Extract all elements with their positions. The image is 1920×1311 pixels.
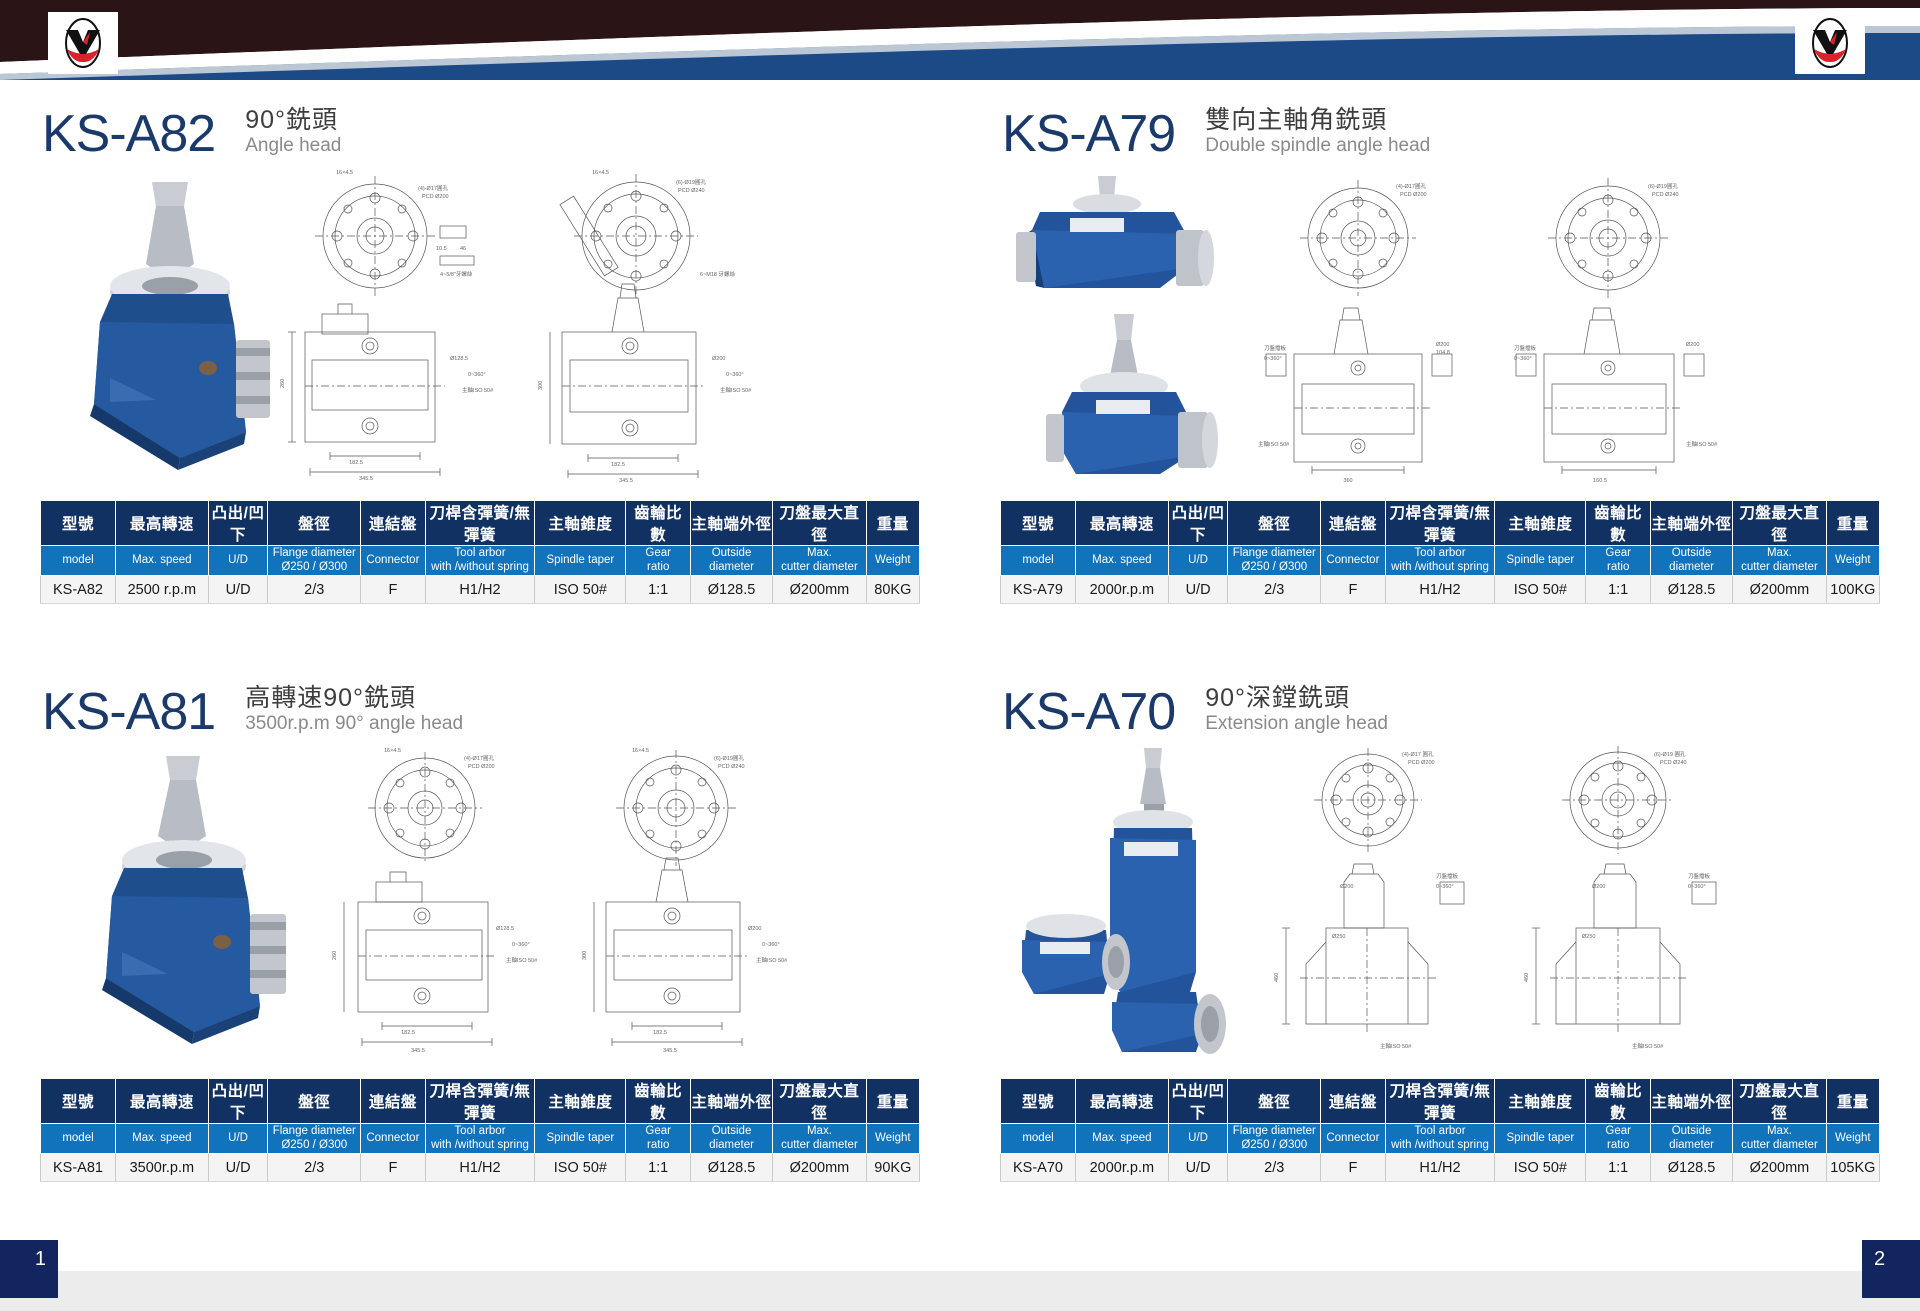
th-en-outside: Outsidediameter — [690, 1124, 772, 1154]
cell-max-cutter-diameter: Ø200mm — [773, 1154, 867, 1182]
th-en-gear: Gearratio — [626, 546, 691, 576]
th-en-ud: U/D — [208, 1124, 268, 1154]
product-title-cn: 高轉速90°銑頭 — [245, 684, 463, 713]
product-visual-area: 182.5 345.5 (4)-Ø17圓孔 PCD Ø200 16×4.5 0~… — [0, 742, 960, 1072]
th-en-model: model — [41, 546, 116, 576]
svg-text:16×4.5: 16×4.5 — [336, 170, 353, 176]
table-header-cn: 型號 最高轉速 凸出/凹下 盤徑 連結盤 刀桿含彈簧/無彈簧 主軸錐度 齒輪比數… — [1001, 1079, 1880, 1124]
th-en-taper-l1: Spindle taper — [1506, 554, 1574, 566]
th-en-taper: Spindle taper — [1495, 546, 1586, 576]
spec-table: 型號 最高轉速 凸出/凹下 盤徑 連結盤 刀桿含彈簧/無彈簧 主軸錐度 齒輪比數… — [1000, 1078, 1880, 1182]
th-en-arbor-l1: Tool arbor — [1414, 547, 1465, 559]
th-en-outside-l2: diameter — [709, 1139, 754, 1151]
th-en-arbor-l2: with /without spring — [1391, 1139, 1489, 1151]
th-en-model-l1: model — [1022, 554, 1053, 566]
svg-text:PCD Ø200: PCD Ø200 — [1408, 760, 1435, 766]
svg-text:主軸ISO 50#: 主軸ISO 50# — [462, 386, 494, 394]
th-en-model: model — [41, 1124, 116, 1154]
product-title-row: KS-A70 90°深鏜銑頭 Extension angle head — [960, 660, 1920, 738]
svg-text:Ø200: Ø200 — [1686, 342, 1699, 348]
th-cn-gear: 齒輪比數 — [626, 501, 691, 546]
cell-model: KS-A81 — [41, 1154, 116, 1182]
svg-text:PCD Ø240: PCD Ø240 — [1652, 192, 1679, 198]
svg-text:345.5: 345.5 — [411, 1048, 425, 1054]
svg-text:主軸ISO 50#: 主軸ISO 50# — [1632, 1042, 1664, 1050]
drawing-front-view: 182.5 345.5 (4)-Ø17圓孔 PCD Ø200 10.5 46 4… — [270, 164, 520, 494]
svg-text:0~360°: 0~360° — [762, 942, 780, 948]
svg-text:16×4.5: 16×4.5 — [632, 748, 649, 754]
cell-max-speed: 2000r.p.m — [1075, 1154, 1168, 1182]
logo-icon — [56, 16, 110, 70]
th-cn-connector: 連結盤 — [1321, 1079, 1386, 1124]
th-en-arbor-l2: with /without spring — [1391, 561, 1489, 573]
th-cn-weight: 重量 — [1826, 501, 1879, 546]
th-en-ud-l1: U/D — [228, 554, 248, 566]
table-row: KS-A82 2500 r.p.m U/D 2/3 F H1/H2 ISO 50… — [41, 576, 920, 604]
svg-text:4~5/8"牙螺絲: 4~5/8"牙螺絲 — [440, 270, 473, 278]
drawing-front-view: (4)-Ø17圓孔 PCD Ø200 360 刀盤擋板 0~360° 主軸ISO… — [1250, 168, 1490, 488]
th-en-taper-l1: Spindle taper — [1506, 1132, 1574, 1144]
svg-text:刀盤擋板: 刀盤擋板 — [1514, 344, 1537, 352]
th-cn-cutter: 刀盤最大直徑 — [773, 501, 867, 546]
product-title-en: 3500r.p.m 90° angle head — [245, 713, 463, 736]
th-en-cutter-l2: cutter diameter — [781, 561, 858, 573]
product-title-row: KS-A82 90°銑頭 Angle head — [0, 82, 960, 160]
svg-text:Ø250: Ø250 — [1332, 934, 1345, 940]
th-en-model-l1: model — [62, 1132, 93, 1144]
side-view-drawing: 182.5 345.5 (6)-Ø19圓孔 PCD Ø240 6~M18 牙螺絲… — [526, 164, 776, 494]
cell-max-cutter-diameter: Ø200mm — [1733, 576, 1827, 604]
company-logo-right — [1795, 12, 1865, 74]
th-cn-weight: 重量 — [1826, 1079, 1879, 1124]
th-cn-taper: 主軸錐度 — [1495, 501, 1586, 546]
svg-text:16×4.5: 16×4.5 — [384, 748, 401, 754]
th-en-speed: Max. speed — [115, 1124, 208, 1154]
logo-icon — [1803, 16, 1857, 70]
th-en-cutter-l1: Max. — [807, 547, 832, 559]
th-en-arbor-l2: with /without spring — [431, 561, 529, 573]
th-cn-taper: 主軸錐度 — [535, 1079, 626, 1124]
th-en-cutter-l2: cutter diameter — [781, 1139, 858, 1151]
product-model-code: KS-A70 — [1002, 686, 1175, 738]
table-header-en: model Max. speed U/D Flange diameterØ250… — [1001, 1124, 1880, 1154]
table-row: KS-A81 3500r.p.m U/D 2/3 F H1/H2 ISO 50#… — [41, 1154, 920, 1182]
th-en-weight-l1: Weight — [875, 554, 911, 566]
cell-gear-ratio: 1:1 — [1586, 576, 1651, 604]
th-cn-arbor: 刀桿含彈簧/無彈簧 — [1385, 501, 1495, 546]
th-en-ud: U/D — [208, 546, 268, 576]
th-en-flange: Flange diameterØ250 / Ø300 — [1228, 546, 1321, 576]
th-en-taper: Spindle taper — [1495, 1124, 1586, 1154]
th-en-arbor: Tool arborwith /without spring — [1385, 546, 1495, 576]
th-cn-speed: 最高轉速 — [115, 1079, 208, 1124]
th-en-model-l1: model — [62, 554, 93, 566]
th-en-flange-l1: Flange diameter — [1233, 547, 1316, 559]
cell-max-cutter-diameter: Ø200mm — [1733, 1154, 1827, 1182]
th-cn-gear: 齒輪比數 — [1586, 1079, 1651, 1124]
th-en-connector: Connector — [1321, 546, 1386, 576]
th-en-speed-l1: Max. speed — [132, 1132, 191, 1144]
th-en-gear-l2: ratio — [1607, 1139, 1629, 1151]
spec-table-wrapper: 型號 最高轉速 凸出/凹下 盤徑 連結盤 刀桿含彈簧/無彈簧 主軸錐度 齒輪比數… — [960, 1078, 1920, 1182]
company-logo-left — [48, 12, 118, 74]
svg-text:0~360°: 0~360° — [726, 372, 744, 378]
catalog-page: KS-A82 90°銑頭 Angle head — [0, 0, 1920, 1311]
th-en-arbor: Tool arborwith /without spring — [425, 546, 535, 576]
th-cn-model: 型號 — [1001, 501, 1076, 546]
svg-text:182.5: 182.5 — [349, 460, 363, 466]
th-en-outside: Outsidediameter — [1650, 1124, 1732, 1154]
front-view-drawing: 182.5 345.5 (4)-Ø17圓孔 PCD Ø200 10.5 46 4… — [270, 164, 520, 494]
th-en-weight: Weight — [866, 546, 919, 576]
th-cn-connector: 連結盤 — [361, 501, 426, 546]
product-title-en: Angle head — [245, 135, 341, 158]
cell-tool-arbor: H1/H2 — [1385, 576, 1495, 604]
th-en-taper: Spindle taper — [535, 1124, 626, 1154]
svg-text:Ø128.5: Ø128.5 — [496, 926, 514, 932]
th-cn-ud: 凸出/凹下 — [1168, 501, 1228, 546]
th-en-ud: U/D — [1168, 1124, 1228, 1154]
th-en-outside-l1: Outside — [712, 547, 752, 559]
svg-text:182.5: 182.5 — [611, 462, 625, 468]
cell-weight: 105KG — [1826, 1154, 1879, 1182]
cell-outside-diameter: Ø128.5 — [690, 576, 772, 604]
th-en-connector: Connector — [361, 1124, 426, 1154]
svg-text:Ø200: Ø200 — [748, 926, 761, 932]
side-view-drawing: 182.5 345.5 (6)-Ø19圓孔 PCD Ø240 16×4.5 0~… — [568, 742, 808, 1062]
th-en-gear-l1: Gear — [1605, 1125, 1631, 1137]
svg-text:(6)-Ø19 圓孔: (6)-Ø19 圓孔 — [1654, 750, 1686, 758]
th-en-arbor: Tool arborwith /without spring — [425, 1124, 535, 1154]
svg-text:182.5: 182.5 — [653, 1030, 667, 1036]
th-en-weight: Weight — [1826, 546, 1879, 576]
cell-model: KS-A79 — [1001, 576, 1076, 604]
th-cn-connector: 連結盤 — [361, 1079, 426, 1124]
th-cn-connector: 連結盤 — [1321, 501, 1386, 546]
th-en-flange: Flange diameterØ250 / Ø300 — [268, 1124, 361, 1154]
th-en-outside: Outsidediameter — [690, 546, 772, 576]
cell-spindle-taper: ISO 50# — [1495, 1154, 1586, 1182]
svg-text:104.8: 104.8 — [1436, 350, 1450, 356]
cell-weight: 80KG — [866, 576, 919, 604]
th-cn-speed: 最高轉速 — [1075, 501, 1168, 546]
th-cn-flange: 盤徑 — [268, 1079, 361, 1124]
svg-text:10.5: 10.5 — [436, 246, 447, 252]
th-cn-cutter: 刀盤最大直徑 — [1733, 501, 1827, 546]
cell-model: KS-A70 — [1001, 1154, 1076, 1182]
cell-model: KS-A82 — [41, 576, 116, 604]
svg-text:460: 460 — [1274, 973, 1280, 982]
svg-text:PCD Ø240: PCD Ø240 — [718, 764, 745, 770]
th-cn-flange: 盤徑 — [1228, 1079, 1321, 1124]
cell-tool-arbor: H1/H2 — [425, 576, 535, 604]
cell-connector: F — [1321, 1154, 1386, 1182]
th-en-taper-l1: Spindle taper — [546, 1132, 614, 1144]
th-cn-cutter: 刀盤最大直徑 — [1733, 1079, 1827, 1124]
svg-text:0~360°: 0~360° — [1436, 884, 1454, 890]
th-en-cutter-l2: cutter diameter — [1741, 1139, 1818, 1151]
th-cn-arbor: 刀桿含彈簧/無彈簧 — [425, 501, 535, 546]
svg-text:46: 46 — [460, 246, 466, 252]
th-en-flange-l2: Ø250 / Ø300 — [1241, 1139, 1307, 1151]
cell-outside-diameter: Ø128.5 — [1650, 576, 1732, 604]
svg-text:Ø128.5: Ø128.5 — [450, 356, 468, 362]
svg-text:PCD Ø240: PCD Ø240 — [1660, 760, 1687, 766]
page-number-left: 1 — [0, 1240, 58, 1298]
product-visual-area: (4)-Ø17圓孔 PCD Ø200 360 刀盤擋板 0~360° 主軸ISO… — [960, 164, 1920, 494]
footer-band — [0, 1271, 1920, 1311]
cell-ud: U/D — [208, 576, 268, 604]
svg-text:260: 260 — [280, 379, 286, 388]
cell-spindle-taper: ISO 50# — [1495, 576, 1586, 604]
th-en-outside-l2: diameter — [1669, 1139, 1714, 1151]
svg-text:主軸ISO 50#: 主軸ISO 50# — [720, 386, 752, 394]
cell-ud: U/D — [1168, 576, 1228, 604]
svg-text:(4)-Ø17圓孔: (4)-Ø17圓孔 — [464, 754, 494, 762]
svg-text:Ø250: Ø250 — [1582, 934, 1595, 940]
th-en-gear-l1: Gear — [645, 547, 671, 559]
th-en-gear: Gearratio — [626, 1124, 691, 1154]
angle-head-photo-illustration — [60, 172, 280, 472]
th-en-ud: U/D — [1168, 546, 1228, 576]
th-en-flange-l1: Flange diameter — [273, 1125, 356, 1137]
th-en-speed: Max. speed — [1075, 1124, 1168, 1154]
drawing-side-view: (6)-Ø19 圓孔 PCD Ø240 Ø250 Ø200 460 刀盤擋板 0… — [1510, 742, 1750, 1062]
th-cn-speed: 最高轉速 — [1075, 1079, 1168, 1124]
front-view-drawing: (4)-Ø17 圓孔 PCD Ø200 Ø250 Ø200 460 刀盤擋板 0… — [1260, 742, 1500, 1062]
th-en-outside-l2: diameter — [709, 561, 754, 573]
spec-table: 型號 最高轉速 凸出/凹下 盤徑 連結盤 刀桿含彈簧/無彈簧 主軸錐度 齒輪比數… — [1000, 500, 1880, 604]
svg-text:345.5: 345.5 — [619, 478, 633, 484]
th-en-gear-l1: Gear — [645, 1125, 671, 1137]
th-en-model-l1: model — [1022, 1132, 1053, 1144]
th-cn-taper: 主軸錐度 — [1495, 1079, 1586, 1124]
svg-text:主軸ISO 50#: 主軸ISO 50# — [756, 956, 788, 964]
th-en-gear: Gearratio — [1586, 1124, 1651, 1154]
technical-drawings: 182.5 345.5 (4)-Ø17圓孔 PCD Ø200 10.5 46 4… — [270, 164, 776, 494]
product-title-cn: 90°深鏜銑頭 — [1205, 684, 1388, 713]
th-cn-flange: 盤徑 — [1228, 501, 1321, 546]
cell-gear-ratio: 1:1 — [626, 576, 691, 604]
svg-text:Ø200: Ø200 — [712, 356, 725, 362]
high-speed-angle-head-photo-illustration — [70, 748, 300, 1048]
product-photo — [60, 172, 280, 477]
th-en-speed-l1: Max. speed — [1092, 554, 1151, 566]
svg-text:0~360°: 0~360° — [512, 942, 530, 948]
svg-text:345.5: 345.5 — [359, 476, 373, 482]
th-cn-taper: 主軸錐度 — [535, 501, 626, 546]
th-en-gear-l2: ratio — [647, 1139, 669, 1151]
svg-text:PCD Ø200: PCD Ø200 — [422, 194, 449, 200]
svg-text:刀盤擋板: 刀盤擋板 — [1688, 872, 1711, 880]
th-en-cutter: Max.cutter diameter — [773, 546, 867, 576]
table-header-en: model Max. speed U/D Flange diameterØ250… — [41, 1124, 920, 1154]
th-en-outside-l1: Outside — [1672, 547, 1712, 559]
table-header-cn: 型號 最高轉速 凸出/凹下 盤徑 連結盤 刀桿含彈簧/無彈簧 主軸錐度 齒輪比數… — [41, 1079, 920, 1124]
spec-table: 型號 最高轉速 凸出/凹下 盤徑 連結盤 刀桿含彈簧/無彈簧 主軸錐度 齒輪比數… — [40, 500, 920, 604]
th-en-cutter-l1: Max. — [807, 1125, 832, 1137]
cell-max-speed: 3500r.p.m — [115, 1154, 208, 1182]
svg-text:(4)-Ø17圓孔: (4)-Ø17圓孔 — [418, 184, 448, 192]
svg-text:Ø200: Ø200 — [1436, 342, 1449, 348]
th-cn-model: 型號 — [41, 501, 116, 546]
svg-text:300: 300 — [582, 951, 588, 960]
table-header-cn: 型號 最高轉速 凸出/凹下 盤徑 連結盤 刀桿含彈簧/無彈簧 主軸錐度 齒輪比數… — [1001, 501, 1880, 546]
product-title-cn: 90°銑頭 — [245, 106, 341, 135]
th-en-flange-l1: Flange diameter — [273, 547, 356, 559]
double-spindle-head-photo-illustration — [1010, 164, 1250, 484]
th-en-model: model — [1001, 546, 1076, 576]
spec-table-wrapper: 型號 最高轉速 凸出/凹下 盤徑 連結盤 刀桿含彈簧/無彈簧 主軸錐度 齒輪比數… — [960, 500, 1920, 604]
th-cn-outside: 主軸端外徑 — [1650, 1079, 1732, 1124]
cell-max-speed: 2000r.p.m — [1075, 576, 1168, 604]
product-title-row: KS-A81 高轉速90°銑頭 3500r.p.m 90° angle head — [0, 660, 960, 738]
product-model-code: KS-A79 — [1002, 108, 1175, 160]
table-header-cn: 型號 最高轉速 凸出/凹下 盤徑 連結盤 刀桿含彈簧/無彈簧 主軸錐度 齒輪比數… — [41, 501, 920, 546]
svg-text:16×4.5: 16×4.5 — [592, 170, 609, 176]
cell-max-cutter-diameter: Ø200mm — [773, 576, 867, 604]
cell-ud: U/D — [1168, 1154, 1228, 1182]
th-en-flange-l1: Flange diameter — [1233, 1125, 1316, 1137]
cell-spindle-taper: ISO 50# — [535, 576, 626, 604]
th-cn-arbor: 刀桿含彈簧/無彈簧 — [1385, 1079, 1495, 1124]
drawing-side-view: (6)-Ø19圓孔 PCD Ø240 160.5 刀盤擋板 0~360° 主軸I… — [1500, 168, 1740, 488]
front-view-drawing: (4)-Ø17圓孔 PCD Ø200 360 刀盤擋板 0~360° 主軸ISO… — [1250, 168, 1490, 488]
th-en-outside-l1: Outside — [1672, 1125, 1712, 1137]
svg-text:300: 300 — [538, 381, 544, 390]
th-en-outside: Outsidediameter — [1650, 546, 1732, 576]
cell-tool-arbor: H1/H2 — [425, 1154, 535, 1182]
th-en-arbor-l1: Tool arbor — [454, 547, 505, 559]
side-view-drawing: (6)-Ø19 圓孔 PCD Ø240 Ø250 Ø200 460 刀盤擋板 0… — [1510, 742, 1750, 1062]
th-en-arbor: Tool arborwith /without spring — [1385, 1124, 1495, 1154]
th-en-outside-l1: Outside — [712, 1125, 752, 1137]
spec-table-wrapper: 型號 最高轉速 凸出/凹下 盤徑 連結盤 刀桿含彈簧/無彈簧 主軸錐度 齒輪比數… — [0, 1078, 960, 1182]
th-cn-speed: 最高轉速 — [115, 501, 208, 546]
svg-text:345.5: 345.5 — [663, 1048, 677, 1054]
th-en-connector-l1: Connector — [1326, 554, 1379, 566]
svg-text:182.5: 182.5 — [401, 1030, 415, 1036]
front-view-drawing: 182.5 345.5 (4)-Ø17圓孔 PCD Ø200 16×4.5 0~… — [320, 742, 560, 1062]
svg-text:主軸ISO 50#: 主軸ISO 50# — [1258, 440, 1290, 448]
cell-outside-diameter: Ø128.5 — [1650, 1154, 1732, 1182]
drawing-front-view: (4)-Ø17 圓孔 PCD Ø200 Ø250 Ø200 460 刀盤擋板 0… — [1260, 742, 1500, 1062]
th-en-ud-l1: U/D — [228, 1132, 248, 1144]
th-en-speed-l1: Max. speed — [1092, 1132, 1151, 1144]
th-en-connector-l1: Connector — [366, 1132, 419, 1144]
th-cn-outside: 主軸端外徑 — [1650, 501, 1732, 546]
svg-text:主軸ISO 50#: 主軸ISO 50# — [1686, 440, 1718, 448]
cell-tool-arbor: H1/H2 — [1385, 1154, 1495, 1182]
cell-connector: F — [1321, 576, 1386, 604]
th-en-connector-l1: Connector — [1326, 1132, 1379, 1144]
th-en-cutter-l1: Max. — [1767, 547, 1792, 559]
th-en-cutter-l1: Max. — [1767, 1125, 1792, 1137]
cell-outside-diameter: Ø128.5 — [690, 1154, 772, 1182]
th-en-gear-l2: ratio — [647, 561, 669, 573]
th-en-flange-l2: Ø250 / Ø300 — [281, 561, 347, 573]
svg-text:0~360°: 0~360° — [1688, 884, 1706, 890]
svg-text:刀盤擋板: 刀盤擋板 — [1436, 872, 1459, 880]
svg-text:(6)-Ø19圓孔: (6)-Ø19圓孔 — [676, 178, 706, 186]
product-title-en: Extension angle head — [1205, 713, 1388, 736]
th-en-weight: Weight — [1826, 1124, 1879, 1154]
spec-table: 型號 最高轉速 凸出/凹下 盤徑 連結盤 刀桿含彈簧/無彈簧 主軸錐度 齒輪比數… — [40, 1078, 920, 1182]
th-cn-ud: 凸出/凹下 — [208, 1079, 268, 1124]
svg-text:Ø200: Ø200 — [1592, 884, 1605, 890]
th-en-ud-l1: U/D — [1188, 554, 1208, 566]
side-view-drawing: (6)-Ø19圓孔 PCD Ø240 160.5 刀盤擋板 0~360° 主軸I… — [1500, 168, 1740, 488]
svg-text:(4)-Ø17圓孔: (4)-Ø17圓孔 — [1396, 182, 1426, 190]
cell-ud: U/D — [208, 1154, 268, 1182]
th-en-flange: Flange diameterØ250 / Ø300 — [1228, 1124, 1321, 1154]
th-cn-cutter: 刀盤最大直徑 — [773, 1079, 867, 1124]
svg-text:Ø200: Ø200 — [1340, 884, 1353, 890]
th-en-weight-l1: Weight — [1835, 554, 1871, 566]
th-en-speed-l1: Max. speed — [132, 554, 191, 566]
product-title-cn: 雙向主軸角銑頭 — [1205, 106, 1430, 135]
product-photo — [1010, 164, 1250, 489]
svg-text:0~360°: 0~360° — [468, 372, 486, 378]
th-en-taper: Spindle taper — [535, 546, 626, 576]
th-en-weight-l1: Weight — [875, 1132, 911, 1144]
product-title-row: KS-A79 雙向主軸角銑頭 Double spindle angle head — [960, 82, 1920, 160]
th-en-connector: Connector — [1321, 1124, 1386, 1154]
th-en-weight: Weight — [866, 1124, 919, 1154]
svg-text:0~360°: 0~360° — [1514, 356, 1532, 362]
th-en-cutter-l2: cutter diameter — [1741, 561, 1818, 573]
drawing-front-view: 182.5 345.5 (4)-Ø17圓孔 PCD Ø200 16×4.5 0~… — [320, 742, 560, 1062]
th-en-gear: Gearratio — [1586, 546, 1651, 576]
cell-flange-diameter: 2/3 — [1228, 576, 1321, 604]
table-header-en: model Max. speed U/D Flange diameterØ250… — [41, 546, 920, 576]
th-en-ud-l1: U/D — [1188, 1132, 1208, 1144]
table-header-en: model Max. speed U/D Flange diameterØ250… — [1001, 546, 1880, 576]
technical-drawings: (4)-Ø17 圓孔 PCD Ø200 Ø250 Ø200 460 刀盤擋板 0… — [1260, 742, 1750, 1062]
cell-flange-diameter: 2/3 — [268, 576, 361, 604]
svg-text:360: 360 — [1343, 478, 1352, 484]
svg-text:主軸ISO 50#: 主軸ISO 50# — [1380, 1042, 1412, 1050]
product-block-ks-a82: KS-A82 90°銑頭 Angle head — [0, 82, 960, 660]
svg-text:PCD Ø240: PCD Ø240 — [678, 188, 705, 194]
th-en-speed: Max. speed — [115, 546, 208, 576]
svg-text:(6)-Ø19圓孔: (6)-Ø19圓孔 — [1648, 182, 1678, 190]
th-cn-gear: 齒輪比數 — [626, 1079, 691, 1124]
cell-connector: F — [361, 576, 426, 604]
svg-text:6~M18 牙螺絲: 6~M18 牙螺絲 — [700, 270, 735, 278]
drawing-side-view: 182.5 345.5 (6)-Ø19圓孔 PCD Ø240 6~M18 牙螺絲… — [526, 164, 776, 494]
th-en-gear-l1: Gear — [1605, 547, 1631, 559]
cell-flange-diameter: 2/3 — [268, 1154, 361, 1182]
th-en-arbor-l1: Tool arbor — [1414, 1125, 1465, 1137]
product-visual-area: (4)-Ø17 圓孔 PCD Ø200 Ø250 Ø200 460 刀盤擋板 0… — [960, 742, 1920, 1072]
th-cn-model: 型號 — [41, 1079, 116, 1124]
th-en-weight-l1: Weight — [1835, 1132, 1871, 1144]
svg-text:(4)-Ø17 圓孔: (4)-Ø17 圓孔 — [1402, 750, 1434, 758]
th-en-gear-l2: ratio — [1607, 561, 1629, 573]
banner-graphic — [0, 0, 1920, 80]
th-en-flange: Flange diameterØ250 / Ø300 — [268, 546, 361, 576]
th-en-outside-l2: diameter — [1669, 561, 1714, 573]
th-cn-weight: 重量 — [866, 501, 919, 546]
th-en-speed: Max. speed — [1075, 546, 1168, 576]
cell-weight: 90KG — [866, 1154, 919, 1182]
page-number-right: 2 — [1862, 1240, 1920, 1298]
product-block-ks-a70: KS-A70 90°深鏜銑頭 Extension angle head — [960, 660, 1920, 1240]
th-en-arbor-l1: Tool arbor — [454, 1125, 505, 1137]
th-cn-model: 型號 — [1001, 1079, 1076, 1124]
technical-drawings: 182.5 345.5 (4)-Ø17圓孔 PCD Ø200 16×4.5 0~… — [320, 742, 808, 1062]
